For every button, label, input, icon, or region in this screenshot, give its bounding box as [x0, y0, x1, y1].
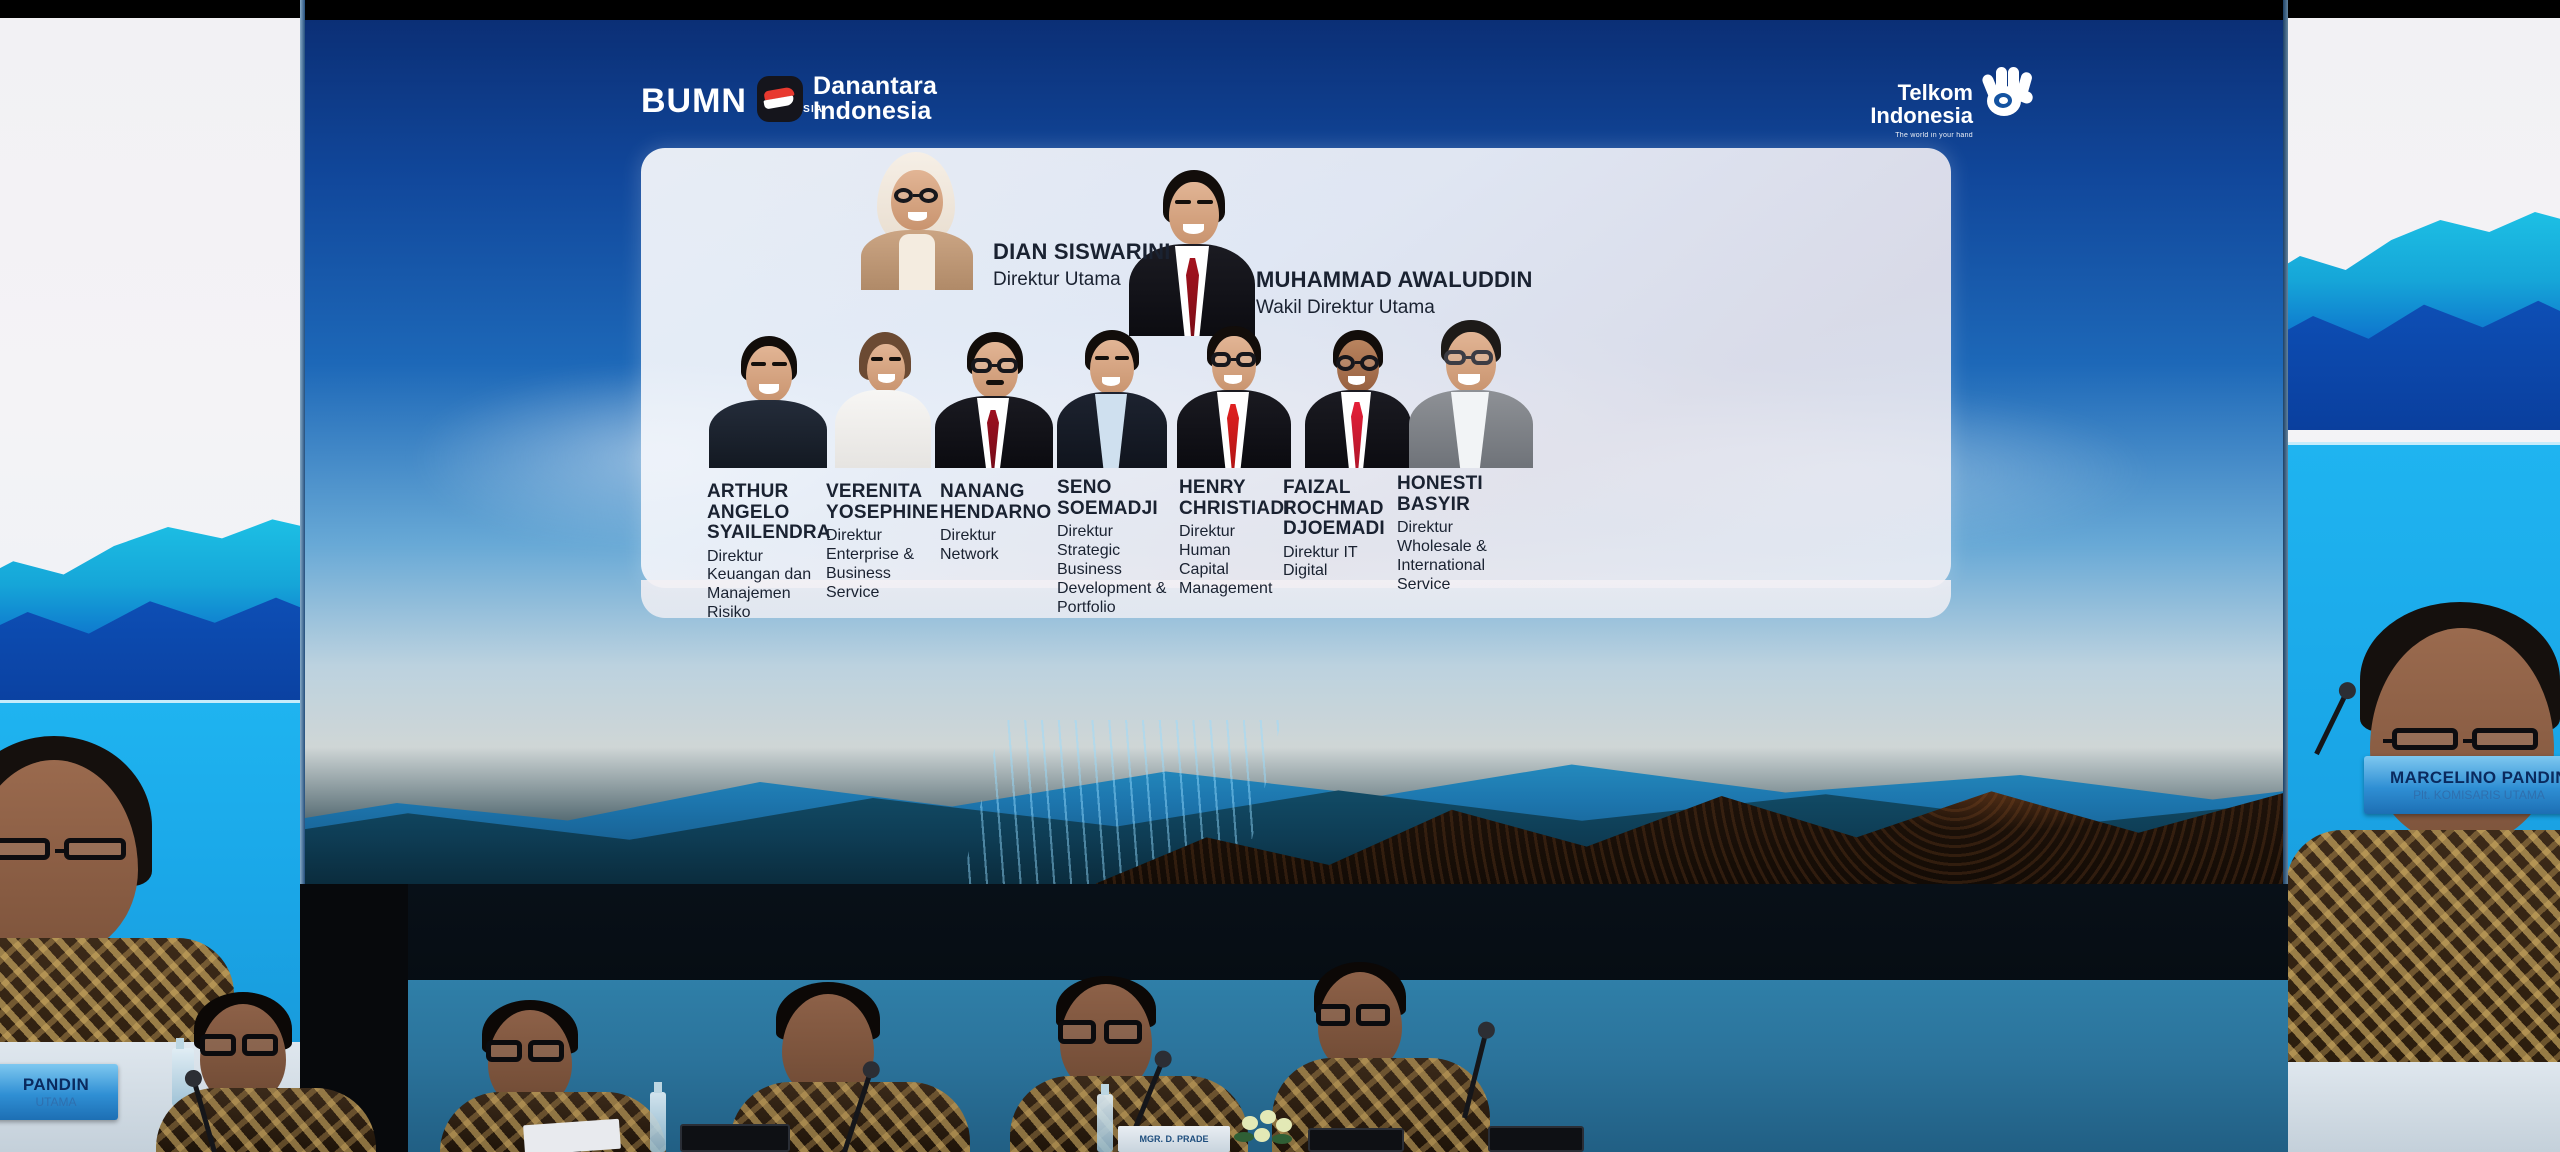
smile — [1102, 377, 1120, 386]
smile — [1183, 224, 1204, 234]
director-role: Direktur Keuangan dan Manajemen Risiko — [707, 548, 823, 624]
panelist-glasses-icon — [486, 1040, 522, 1062]
portrait-arthur-angelo-syailendra — [709, 336, 827, 468]
eyebrow — [772, 362, 787, 366]
director-role: Wakil Direktur Utama — [1256, 297, 1576, 319]
right-panel-nameplate: MARCELINO PANDIN Plt. KOMISARIS UTAMA — [2364, 756, 2560, 814]
telkom-line2: Indonesia — [1870, 105, 1973, 128]
portrait-verenita-yosephine — [835, 332, 931, 468]
label-dian-siswarini: DIAN SISWARINI Direktur Utama — [993, 240, 1223, 291]
glasses-icon — [894, 188, 913, 203]
speaker-glasses-icon — [2392, 728, 2458, 750]
table-bottle — [1097, 1094, 1113, 1152]
label-nanang-hendarno: NANANG HENDARNO Direktur Network — [940, 482, 1052, 565]
panelist-batik-shirt — [156, 1088, 376, 1152]
eyebrow — [751, 362, 766, 366]
panelist-glasses-icon — [1356, 1004, 1390, 1026]
label-muhammad-awaluddin: MUHAMMAD AWALUDDIN Wakil Direktur Utama — [1256, 268, 1576, 319]
panel-horizon-line — [2288, 442, 2560, 445]
director-role: Direktur Network — [940, 527, 1052, 565]
director-name: DIAN SISWARINI — [993, 240, 1223, 264]
glasses-icon — [1336, 355, 1355, 371]
bumn-wordmark: BUMN — [641, 84, 747, 118]
eyebrow — [1197, 200, 1213, 204]
glasses-icon — [1211, 352, 1231, 367]
nameplate-role: Plt. KOMISARIS UTAMA — [2413, 788, 2545, 802]
portrait-faizal-rochmad-djoemadi — [1305, 330, 1411, 468]
smile — [1348, 376, 1365, 385]
director-role: Direktur Enterprise & Business Service — [826, 527, 928, 603]
press-conference-scene: PANDIN UTAMA BUMN — [0, 0, 2560, 1152]
panelist-papers — [523, 1119, 621, 1152]
director-name: VERENITA YOSEPHINE — [826, 482, 928, 523]
portrait-dian-siswarini — [855, 150, 979, 290]
presentation-slide: BUMN UNTUK INDONESIA Danantara Indonesia — [305, 20, 2283, 1030]
face — [867, 344, 905, 392]
danantara-wordmark: Danantara Indonesia — [813, 74, 937, 124]
portrait-honesti-basyir — [1409, 320, 1533, 468]
label-seno-soemadji: SENO SOEMADJI Direktur Strategic Busines… — [1057, 478, 1169, 617]
panelist-glasses-icon — [242, 1034, 278, 1056]
eyebrow — [889, 357, 901, 361]
moustache — [986, 380, 1004, 385]
director-name: SENO SOEMADJI — [1057, 478, 1169, 519]
director-name: NANANG HENDARNO — [940, 482, 1052, 523]
glasses-icon — [1236, 352, 1256, 367]
table-laptop — [680, 1124, 790, 1152]
table-bottle — [650, 1092, 666, 1152]
director-name: HONESTI BASYIR — [1397, 474, 1515, 515]
glasses-bridge — [1355, 361, 1361, 364]
stage-foreground: MGR. D. PRADE — [0, 884, 2560, 1152]
danantara-flag-icon — [757, 76, 803, 122]
eyebrow — [1175, 200, 1191, 204]
director-role: Direktur Utama — [993, 269, 1223, 291]
label-verenita-yosephine: VERENITA YOSEPHINE Direktur Enterprise &… — [826, 482, 928, 603]
panel-horizon-line — [0, 700, 300, 703]
telkom-tagline: The world in your hand — [1895, 132, 1973, 139]
glasses-bridge — [913, 194, 920, 197]
white-blazer — [835, 390, 931, 468]
portrait-seno-soemadji — [1057, 330, 1167, 468]
speaker-glasses-icon — [64, 838, 126, 860]
director-name: FAIZAL ROCHMAD DJOEMADI — [1283, 478, 1397, 540]
glasses-bridge — [1231, 358, 1237, 361]
label-faizal-rochmad-djoemadi: FAIZAL ROCHMAD DJOEMADI Direktur IT Digi… — [1283, 478, 1397, 581]
smile — [1224, 375, 1242, 384]
panelist-glasses-icon — [1058, 1020, 1096, 1044]
glasses-bridge — [992, 364, 998, 367]
smile — [878, 374, 895, 383]
danantara-line1: Danantara — [813, 74, 937, 99]
glasses-icon — [1360, 355, 1379, 371]
director-role: Direktur IT Digital — [1283, 544, 1397, 582]
eyebrow — [1095, 356, 1109, 360]
portrait-nanang-hendarno — [935, 332, 1053, 468]
table-laptop — [1308, 1128, 1404, 1152]
table-flower-arrangement — [1232, 1106, 1302, 1152]
director-name: MUHAMMAD AWALUDDIN — [1256, 268, 1576, 292]
panelist-5 — [1272, 962, 1490, 1152]
panelist-glasses-icon — [1104, 1020, 1142, 1044]
danantara-logo: Danantara Indonesia — [757, 74, 937, 124]
panelist-1 — [150, 992, 380, 1152]
table-laptop — [1488, 1126, 1584, 1152]
label-henry-christiadi: HENRY CHRISTIADI Direktur Human Capital … — [1179, 478, 1279, 599]
eyebrow — [871, 357, 883, 361]
director-role: Direktur Wholesale & International Servi… — [1397, 519, 1515, 595]
label-arthur-angelo-syailendra: ARTHUR ANGELO SYAILENDRA Direktur Keuang… — [707, 482, 823, 623]
label-honesti-basyir: HONESTI BASYIR Direktur Wholesale & Inte… — [1397, 474, 1515, 595]
glasses-icon — [1471, 350, 1493, 365]
telkom-logo: Telkom Indonesia The world in your hand — [1870, 66, 2035, 140]
panelist-2 — [440, 1000, 666, 1152]
portrait-henry-christiadi — [1177, 326, 1291, 468]
speaker-glasses-icon — [2472, 728, 2538, 750]
glasses-bridge — [1466, 356, 1472, 359]
slide-header: BUMN UNTUK INDONESIA Danantara Indonesia — [305, 72, 2283, 152]
smile — [908, 212, 927, 221]
glasses-icon — [919, 188, 938, 203]
panelist-glasses-icon — [200, 1034, 236, 1056]
face — [1169, 182, 1219, 244]
speaker-glasses-icon — [0, 838, 50, 860]
director-name: HENRY CHRISTIADI — [1179, 478, 1279, 519]
smile — [759, 384, 779, 394]
director-role: Direktur Human Capital Management — [1179, 523, 1279, 599]
telkom-hand-icon — [1981, 66, 2035, 118]
danantara-line2: Indonesia — [813, 99, 937, 124]
director-role: Direktur Strategic Business Development … — [1057, 523, 1169, 617]
shirt — [899, 234, 935, 290]
glasses-icon — [971, 358, 992, 373]
glasses-icon — [1444, 350, 1466, 365]
panelist-glasses-icon — [1316, 1004, 1350, 1026]
eyebrow — [1115, 356, 1129, 360]
glasses-icon — [997, 358, 1018, 373]
panelist-glasses-icon — [528, 1040, 564, 1062]
telkom-line1: Telkom — [1898, 82, 1973, 105]
director-name: ARTHUR ANGELO SYAILENDRA — [707, 482, 823, 544]
polo-shirt — [709, 400, 827, 468]
nameplate-name: MARCELINO PANDIN — [2390, 768, 2560, 788]
table-nameplate: MGR. D. PRADE — [1118, 1126, 1230, 1152]
smile — [1458, 374, 1480, 385]
telkom-wordmark: Telkom Indonesia The world in your hand — [1870, 66, 1973, 140]
